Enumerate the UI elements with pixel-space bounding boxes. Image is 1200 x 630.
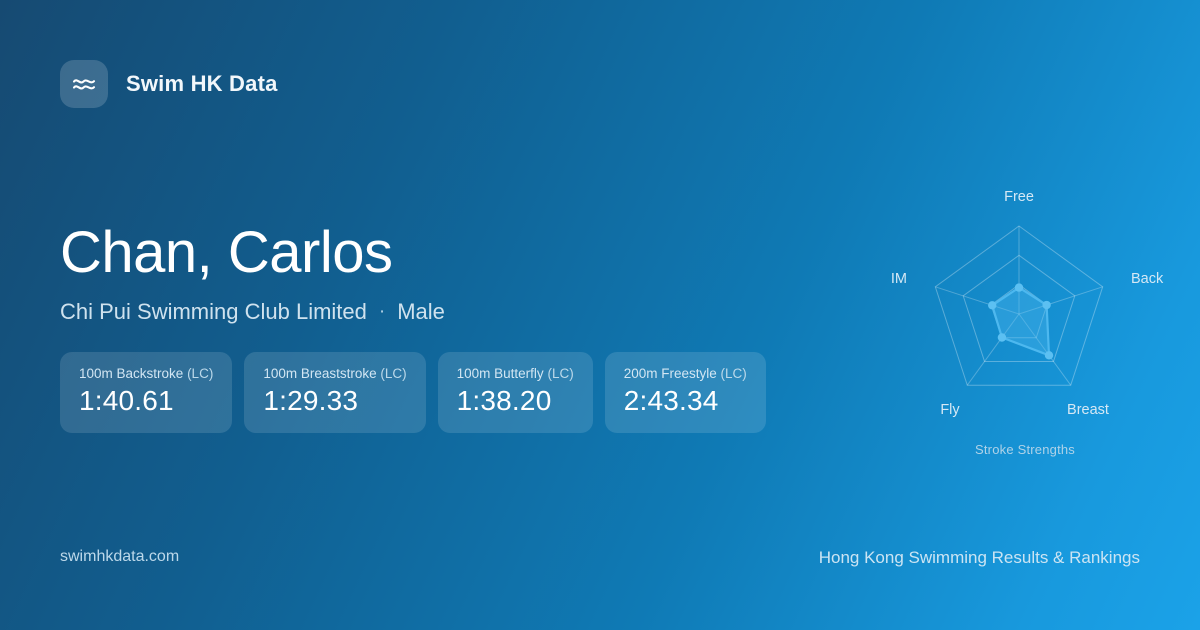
event-course: (LC): [721, 366, 747, 381]
radar-data-point-im: [988, 301, 996, 309]
brand-name: Swim HK Data: [126, 71, 278, 97]
radar-data-point-breast: [1045, 351, 1053, 359]
event-name: 200m Freestyle: [624, 366, 717, 381]
event-card-label: 100m Butterfly (LC): [457, 366, 574, 381]
event-course: (LC): [380, 366, 406, 381]
event-card[interactable]: 100m Backstroke (LC) 1:40.61: [60, 352, 232, 433]
radar-axis-label-fly: Fly: [940, 402, 959, 418]
event-time: 1:38.20: [457, 384, 574, 417]
radar-svg: [880, 170, 1170, 470]
event-card-label: 100m Breaststroke (LC): [263, 366, 406, 381]
athlete-meta: Chi Pui Swimming Club Limited · Male: [60, 299, 445, 325]
page-title: Chan, Carlos: [60, 222, 445, 285]
footer-tagline: Hong Kong Swimming Results & Rankings: [819, 548, 1140, 568]
event-card[interactable]: 100m Breaststroke (LC) 1:29.33: [244, 352, 425, 433]
event-name: 100m Breaststroke: [263, 366, 376, 381]
event-cards: 100m Backstroke (LC) 1:40.61 100m Breast…: [60, 352, 766, 433]
wave-icon: [60, 60, 108, 108]
event-card-label: 100m Backstroke (LC): [79, 366, 213, 381]
brand-header: Swim HK Data: [60, 60, 278, 108]
event-time: 1:29.33: [263, 384, 406, 417]
event-card[interactable]: 200m Freestyle (LC) 2:43.34: [605, 352, 766, 433]
radar-data-point-free: [1015, 283, 1023, 291]
radar-data-point-fly: [998, 333, 1006, 341]
radar-axis-label-back: Back: [1131, 271, 1163, 287]
event-card-label: 200m Freestyle (LC): [624, 366, 747, 381]
radar-axis-label-breast: Breast: [1067, 402, 1109, 418]
stroke-strengths-radar-chart: Stroke Strengths FreeBackBreastFlyIM: [880, 170, 1170, 470]
radar-axis-label-free: Free: [1004, 189, 1034, 205]
radar-axis-label-im: IM: [891, 271, 907, 287]
athlete-gender: Male: [397, 299, 445, 325]
radar-data-point-back: [1042, 301, 1050, 309]
athlete-club: Chi Pui Swimming Club Limited: [60, 299, 367, 325]
footer-site-url[interactable]: swimhkdata.com: [60, 548, 179, 566]
page-canvas: Swim HK Data Chan, Carlos Chi Pui Swimmi…: [0, 0, 1200, 630]
event-time: 2:43.34: [624, 384, 747, 417]
event-time: 1:40.61: [79, 384, 213, 417]
event-course: (LC): [187, 366, 213, 381]
event-course: (LC): [547, 366, 573, 381]
headline-block: Chan, Carlos Chi Pui Swimming Club Limit…: [60, 222, 445, 325]
event-card[interactable]: 100m Butterfly (LC) 1:38.20: [438, 352, 593, 433]
radar-chart-caption: Stroke Strengths: [880, 442, 1170, 457]
event-name: 100m Backstroke: [79, 366, 183, 381]
event-name: 100m Butterfly: [457, 366, 544, 381]
meta-separator: ·: [367, 301, 397, 323]
